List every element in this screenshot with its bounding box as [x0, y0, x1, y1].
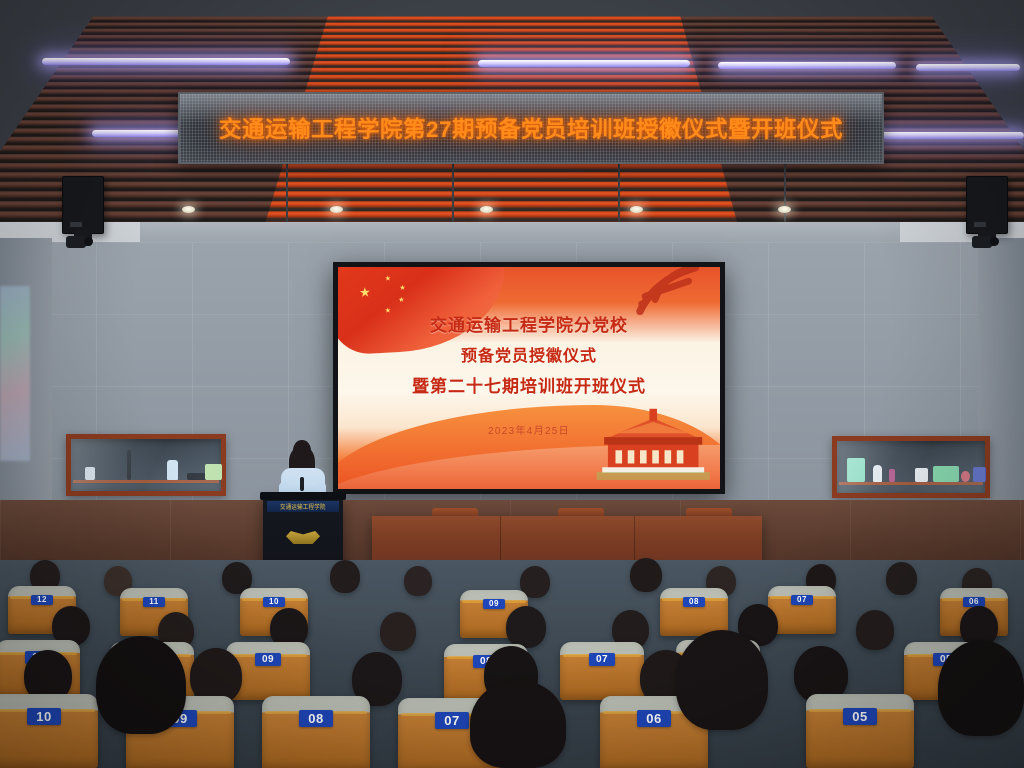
seat-number-plate: 12 — [31, 595, 53, 605]
niche-glass — [837, 441, 985, 493]
seat-number-plate: 09 — [255, 653, 281, 666]
audience-head — [630, 558, 662, 592]
ceiling-downlight — [630, 206, 643, 213]
audience-seat: 10 — [0, 694, 98, 768]
microphone — [300, 477, 304, 491]
screen-title-line3: 暨第二十七期培训班开班仪式 — [338, 372, 720, 397]
presenter-head — [293, 440, 311, 462]
seat-number-plate: 07 — [589, 653, 615, 666]
ceiling-light-strip — [916, 64, 1020, 71]
podium-sign: 交通运输工程学院 — [267, 501, 339, 512]
audience-head — [506, 606, 546, 648]
seat-number-plate: 08 — [299, 710, 333, 727]
tiananmen-gate-graphic — [594, 405, 712, 480]
banner-soffit — [140, 222, 900, 244]
podium-top — [260, 492, 346, 500]
security-camera-left — [66, 236, 86, 248]
seat-number-plate: 06 — [637, 710, 671, 727]
display-niche-right — [832, 436, 990, 498]
seat-number-plate: 09 — [483, 599, 505, 609]
audience-seat: 07 — [560, 642, 644, 700]
led-banner-text: 交通运输工程学院第27期预备党员培训班授徽仪式暨开班仪式 — [219, 112, 843, 144]
audience-head — [470, 680, 566, 768]
audience-seat: 07 — [768, 586, 836, 634]
audience-seat: 08 — [660, 588, 728, 636]
screen-date: 2023年4月25日 — [338, 422, 720, 437]
seat-number-plate: 05 — [843, 708, 877, 725]
ceiling-downlight — [778, 206, 791, 213]
screen-title-line2: 预备党员授徽仪式 — [338, 342, 720, 366]
security-camera-right — [972, 236, 992, 248]
seat-number-plate: 11 — [143, 597, 165, 607]
audience-head — [886, 562, 917, 595]
display-niche-left — [66, 434, 226, 496]
seat-number-plate: 08 — [683, 597, 705, 607]
seat-number-plate: 07 — [435, 712, 469, 729]
audience-head — [856, 610, 894, 650]
seat-number-plate: 10 — [27, 708, 61, 725]
ceiling-light-strip — [478, 60, 690, 67]
led-banner: 交通运输工程学院第27期预备党员培训班授徽仪式暨开班仪式 — [178, 92, 884, 164]
audience-seat: 05 — [806, 694, 914, 768]
ceiling-downlight — [182, 206, 195, 213]
screen-title-block: 交通运输工程学院分党校 预备党员授徽仪式 暨第二十七期培训班开班仪式 — [338, 311, 720, 397]
ceiling-light-strip — [860, 132, 1024, 139]
ceiling-light-strip — [42, 58, 290, 65]
audience-head — [380, 612, 416, 651]
niche-glass — [71, 439, 221, 491]
podium-crest — [286, 531, 320, 544]
projection-screen-frame: ★ ★ ★ ★ ★ — [333, 262, 725, 494]
projection-screen: ★ ★ ★ ★ ★ — [338, 267, 720, 489]
auditorium-scene: 交通运输工程学院第27期预备党员培训班授徽仪式暨开班仪式 — [0, 0, 1024, 768]
audience-head — [96, 636, 186, 734]
podium-sign-text: 交通运输工程学院 — [280, 502, 326, 511]
audience-head — [938, 640, 1024, 736]
ceiling-light-strip — [718, 62, 896, 69]
seat-number-plate: 10 — [263, 597, 285, 607]
ceiling-downlight — [480, 206, 493, 213]
audience-head — [404, 566, 432, 596]
audience-seat: 08 — [262, 696, 370, 768]
audience-head — [676, 630, 768, 730]
screen-title-line1: 交通运输工程学院分党校 — [338, 311, 720, 336]
wall-poster — [0, 286, 30, 461]
ceiling-downlight — [330, 206, 343, 213]
seat-number-plate: 07 — [791, 595, 813, 605]
wall-speaker-left — [62, 176, 104, 234]
wall-speaker-right — [966, 176, 1008, 234]
audience-head — [330, 560, 360, 593]
